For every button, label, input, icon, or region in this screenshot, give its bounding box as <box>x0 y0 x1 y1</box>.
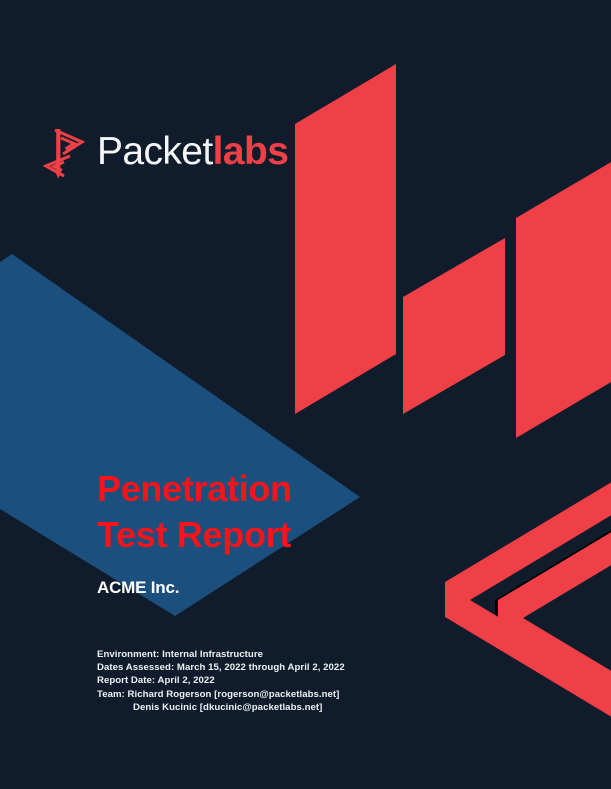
packetlabs-arrow-logo-icon <box>42 124 86 180</box>
report-cover-page: Packetlabs Penetration Test Report ACME … <box>0 0 611 789</box>
wordmark-bold: labs <box>213 130 289 173</box>
metadata-line-environment: Environment: Internal Infrastructure <box>97 648 345 661</box>
metadata-line-report-date: Report Date: April 2, 2022 <box>97 674 345 687</box>
client-name: ACME Inc. <box>97 579 292 596</box>
red-parallelogram-tall-left <box>295 64 396 414</box>
report-metadata: Environment: Internal Infrastructure Dat… <box>97 648 345 714</box>
title-block: Penetration Test Report ACME Inc. <box>97 466 292 596</box>
metadata-line-dates-assessed: Dates Assessed: March 15, 2022 through A… <box>97 661 345 674</box>
page-title: Penetration Test Report <box>97 466 292 558</box>
logo-stem <box>56 129 60 179</box>
metadata-line-team-primary: Team: Richard Rogerson [rogerson@packetl… <box>97 688 345 701</box>
metadata-line-team-secondary: Denis Kucinic [dkucinic@packetlabs.net] <box>97 701 345 714</box>
brand-logo: Packetlabs <box>42 124 288 180</box>
brand-wordmark: Packetlabs <box>97 132 288 171</box>
wordmark-light: Packet <box>97 130 213 173</box>
